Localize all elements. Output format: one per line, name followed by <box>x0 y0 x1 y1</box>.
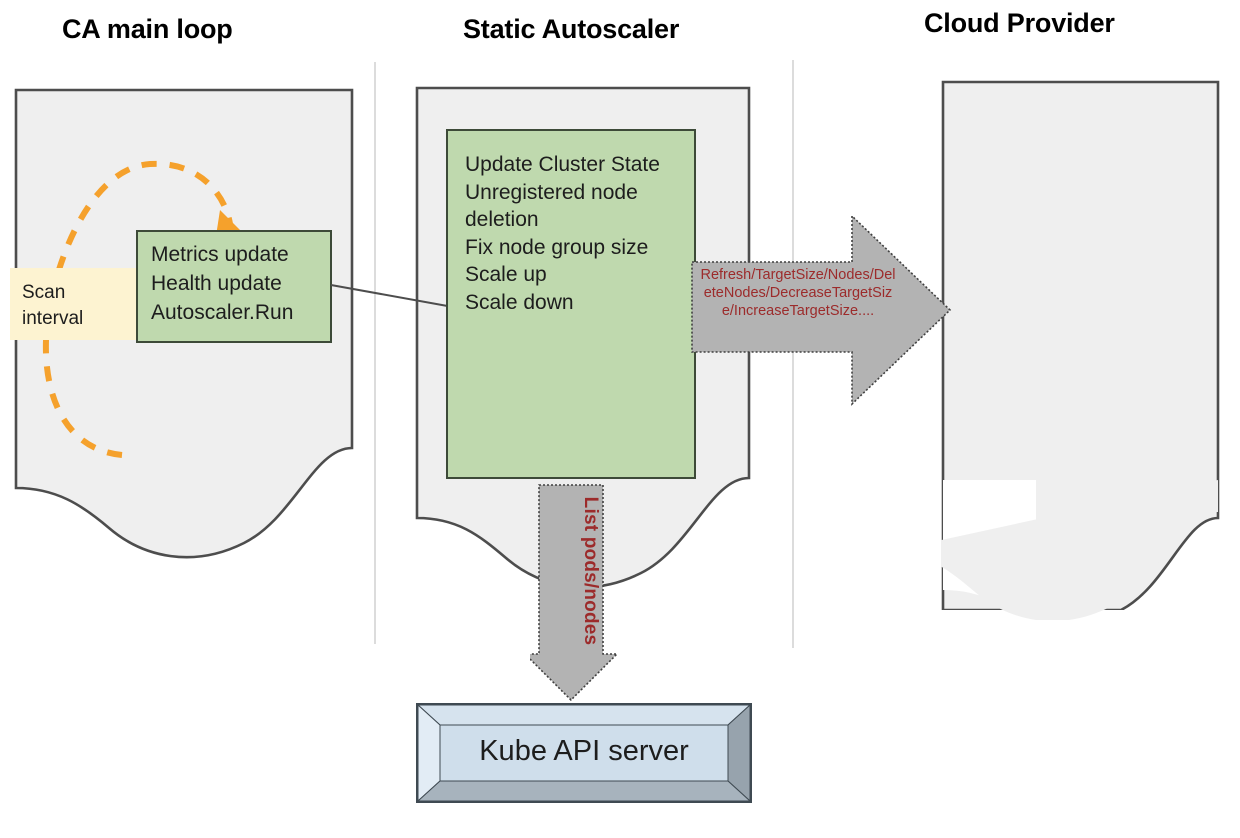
static-ops-line-3: deletion <box>465 206 694 234</box>
column-title-static-autoscaler: Static Autoscaler <box>463 14 679 45</box>
static-autoscaler-operations-box[interactable]: Update Cluster State Unregistered node d… <box>446 129 696 479</box>
kube-api-server-box[interactable] <box>416 703 752 803</box>
column-separator-left <box>374 62 376 644</box>
arrow-to-kube-api-icon <box>530 482 620 704</box>
metrics-box-line-1: Metrics update <box>151 240 330 269</box>
scan-interval-note: Scan interval <box>10 268 136 340</box>
diagram-canvas: CA main loop Static Autoscaler Cloud Pro… <box>0 0 1240 838</box>
static-ops-line-1: Update Cluster State <box>465 151 694 179</box>
panel-cloud-provider-wave-shape <box>941 480 1223 620</box>
static-ops-line-2: Unregistered node <box>465 179 694 207</box>
metrics-box-line-2: Health update <box>151 269 330 298</box>
static-ops-line-5: Scale up <box>465 261 694 289</box>
metrics-box-line-3: Autoscaler.Run <box>151 298 330 327</box>
panel-cloud-provider-wave <box>941 480 1223 620</box>
scan-interval-line-2: interval <box>22 306 136 332</box>
column-title-ca-main-loop: CA main loop <box>62 14 233 45</box>
column-title-cloud-provider: Cloud Provider <box>924 8 1115 39</box>
scan-interval-line-1: Scan <box>22 280 136 306</box>
connector-metrics-to-static <box>325 275 465 335</box>
static-ops-line-6: Scale down <box>465 289 694 317</box>
metrics-update-box[interactable]: Metrics update Health update Autoscaler.… <box>136 230 332 343</box>
static-ops-line-4: Fix node group size <box>465 234 694 262</box>
arrow-to-cloud-provider-icon <box>688 210 958 410</box>
